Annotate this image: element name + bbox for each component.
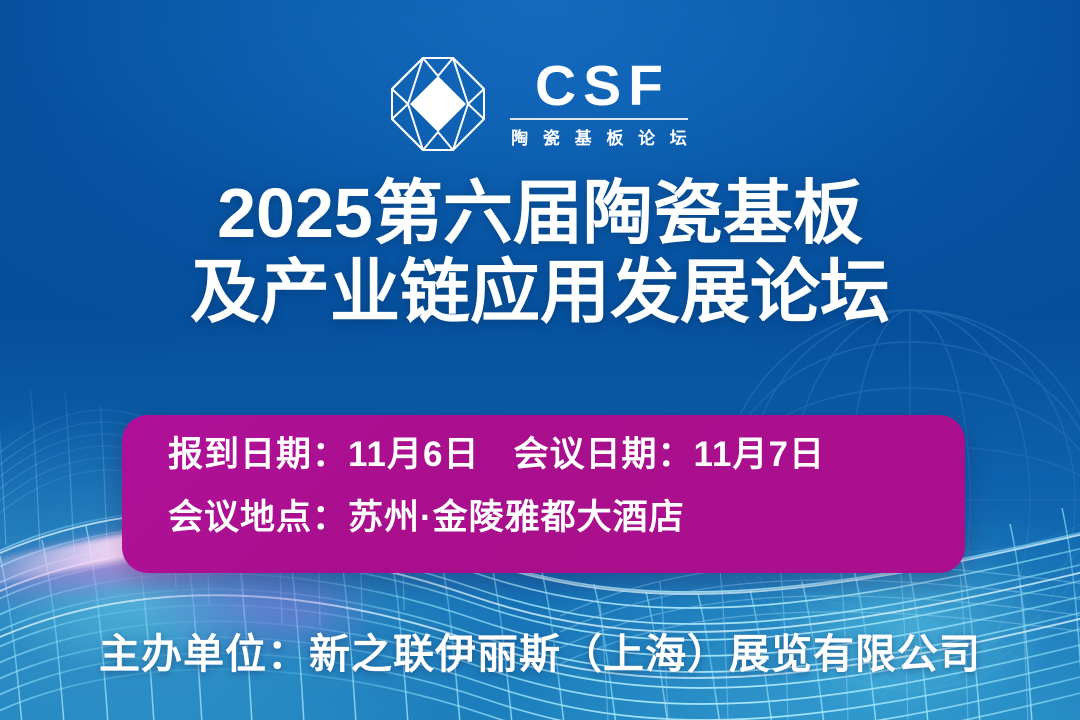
- meeting-date-value: 11月7日: [694, 435, 825, 474]
- logo-subtitle: 陶 瓷 基 板 论 坛: [506, 124, 692, 149]
- event-dates-row: 报到日期：11月6日会议日期：11月7日: [168, 437, 965, 472]
- logo-wordmark-group: CSF 陶 瓷 基 板 论 坛: [506, 59, 692, 149]
- checkin-date-value: 11月6日: [348, 435, 479, 474]
- meeting-date-label: 会议日期：: [513, 435, 693, 474]
- csf-logo: CSF 陶 瓷 基 板 论 坛: [0, 54, 1080, 154]
- octagon-diamond-icon: [388, 54, 488, 154]
- event-venue-row: 会议地点：苏州·金陵雅都大酒店: [168, 500, 965, 535]
- page-title-line-1: 2025第六届陶瓷基板: [0, 178, 1080, 249]
- page-title-line-2: 及产业链应用发展论坛: [0, 257, 1080, 328]
- organizer-line: 主办单位：新之联伊丽斯（上海）展览有限公司: [0, 620, 1080, 680]
- venue-label: 会议地点：: [168, 498, 348, 537]
- poster-canvas: CSF 陶 瓷 基 板 论 坛 2025第六届陶瓷基板 及产业链应用发展论坛 报…: [0, 0, 1080, 720]
- venue-value: 苏州·金陵雅都大酒店: [348, 498, 685, 537]
- page-title: 2025第六届陶瓷基板 及产业链应用发展论坛: [0, 178, 1080, 329]
- event-info-band: 报到日期：11月6日会议日期：11月7日 会议地点：苏州·金陵雅都大酒店: [122, 415, 965, 573]
- checkin-date-label: 报到日期：: [168, 435, 348, 474]
- logo-divider-rule: [510, 118, 688, 120]
- logo-wordmark: CSF: [528, 59, 670, 115]
